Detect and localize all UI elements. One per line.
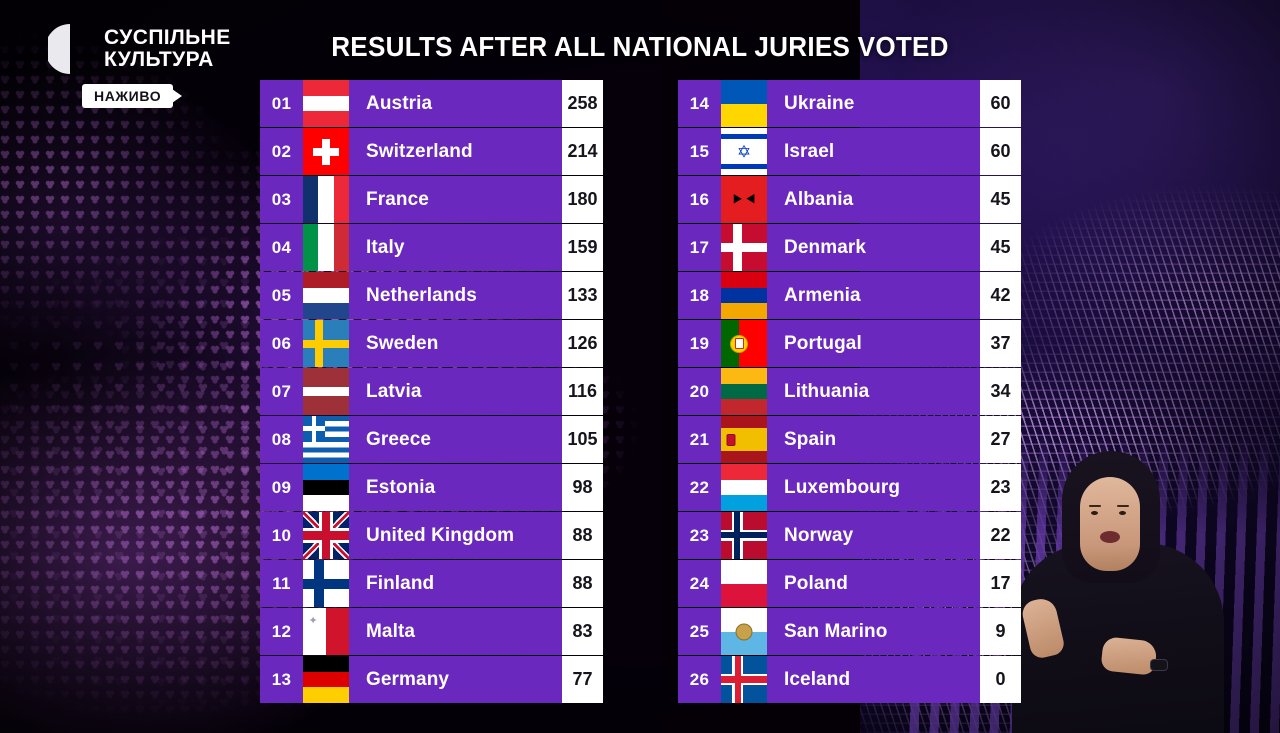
points-cell: 133 (562, 272, 603, 319)
points-cell: 37 (980, 320, 1021, 367)
table-row[interactable]: 11Finland88 (260, 560, 603, 607)
country-name: Israel (767, 128, 980, 175)
flag-germany-icon (303, 656, 349, 703)
points-cell: 105 (562, 416, 603, 463)
flag-united-kingdom-icon (303, 512, 349, 559)
country-name: France (349, 176, 562, 223)
interpreter-mouth (1100, 531, 1120, 543)
table-row[interactable]: 07Latvia116 (260, 368, 603, 415)
interpreter-hand-right (1100, 636, 1157, 675)
flag-armenia-icon (721, 272, 767, 319)
points-cell: 180 (562, 176, 603, 223)
country-name: Poland (767, 560, 980, 607)
points-cell: 98 (562, 464, 603, 511)
table-row[interactable]: 10United Kingdom88 (260, 512, 603, 559)
table-row[interactable]: 05Netherlands133 (260, 272, 603, 319)
flag-finland-icon (303, 560, 349, 607)
table-row[interactable]: 19Portugal37 (678, 320, 1021, 367)
scoreboard-column-right: 14Ukraine6015✡Israel6016⯈⯇Albania4517Den… (678, 80, 1021, 703)
country-name: United Kingdom (349, 512, 562, 559)
table-row[interactable]: 18Armenia42 (678, 272, 1021, 319)
points-cell: 23 (980, 464, 1021, 511)
flag-norway-icon (721, 512, 767, 559)
flag-spain-icon (721, 416, 767, 463)
points-cell: 77 (562, 656, 603, 703)
points-cell: 60 (980, 80, 1021, 127)
country-name: Estonia (349, 464, 562, 511)
rank-cell: 12 (260, 608, 303, 655)
table-row[interactable]: 01Austria258 (260, 80, 603, 127)
table-row[interactable]: 13Germany77 (260, 656, 603, 703)
country-name: Iceland (767, 656, 980, 703)
flag-lithuania-icon (721, 368, 767, 415)
rank-cell: 17 (678, 224, 721, 271)
rank-cell: 04 (260, 224, 303, 271)
interpreter-brow-right (1117, 505, 1129, 508)
interpreter-face (1080, 477, 1140, 571)
table-row[interactable]: 06Sweden126 (260, 320, 603, 367)
country-name: Greece (349, 416, 562, 463)
rank-cell: 08 (260, 416, 303, 463)
flag-austria-icon (303, 80, 349, 127)
rank-cell: 26 (678, 656, 721, 703)
table-row[interactable]: 03France180 (260, 176, 603, 223)
rank-cell: 13 (260, 656, 303, 703)
rank-cell: 01 (260, 80, 303, 127)
scoreboard-column-left: 01Austria25802Switzerland21403France1800… (260, 80, 603, 703)
points-cell: 159 (562, 224, 603, 271)
rank-cell: 23 (678, 512, 721, 559)
rank-cell: 22 (678, 464, 721, 511)
points-cell: 45 (980, 224, 1021, 271)
table-row[interactable]: 15✡Israel60 (678, 128, 1021, 175)
country-name: Armenia (767, 272, 980, 319)
flag-iceland-icon (721, 656, 767, 703)
points-cell: 126 (562, 320, 603, 367)
flag-san-marino-icon (721, 608, 767, 655)
interpreter-wristwatch (1150, 659, 1168, 671)
country-name: Finland (349, 560, 562, 607)
country-name: Switzerland (349, 128, 562, 175)
rank-cell: 15 (678, 128, 721, 175)
rank-cell: 10 (260, 512, 303, 559)
flag-malta-icon: ✦ (303, 608, 349, 655)
page-title: RESULTS AFTER ALL NATIONAL JURIES VOTED (45, 31, 1235, 63)
sign-language-interpreter (990, 448, 1240, 733)
table-row[interactable]: 26Iceland0 (678, 656, 1021, 703)
rank-cell: 16 (678, 176, 721, 223)
flag-estonia-icon (303, 464, 349, 511)
flag-sweden-icon (303, 320, 349, 367)
table-row[interactable]: 04Italy159 (260, 224, 603, 271)
rank-cell: 07 (260, 368, 303, 415)
interpreter-eye-left (1091, 511, 1098, 515)
flag-switzerland-icon (303, 128, 349, 175)
country-name: Latvia (349, 368, 562, 415)
rank-cell: 06 (260, 320, 303, 367)
interpreter-eye-right (1119, 511, 1126, 515)
points-cell: 17 (980, 560, 1021, 607)
rank-cell: 11 (260, 560, 303, 607)
rank-cell: 03 (260, 176, 303, 223)
country-name: Norway (767, 512, 980, 559)
flag-france-icon (303, 176, 349, 223)
points-cell: 45 (980, 176, 1021, 223)
table-row[interactable]: 09Estonia98 (260, 464, 603, 511)
flag-portugal-icon (721, 320, 767, 367)
country-name: Luxembourg (767, 464, 980, 511)
table-row[interactable]: 14Ukraine60 (678, 80, 1021, 127)
country-name: Spain (767, 416, 980, 463)
country-name: Ukraine (767, 80, 980, 127)
rank-cell: 18 (678, 272, 721, 319)
flag-poland-icon (721, 560, 767, 607)
points-cell: 116 (562, 368, 603, 415)
rank-cell: 24 (678, 560, 721, 607)
points-cell: 88 (562, 512, 603, 559)
points-cell: 83 (562, 608, 603, 655)
country-name: Lithuania (767, 368, 980, 415)
country-name: Netherlands (349, 272, 562, 319)
flag-israel-icon: ✡ (721, 128, 767, 175)
points-cell: 88 (562, 560, 603, 607)
country-name: Sweden (349, 320, 562, 367)
table-row[interactable]: 22Luxembourg23 (678, 464, 1021, 511)
points-cell: 258 (562, 80, 603, 127)
live-badge: НАЖИВО (82, 84, 173, 108)
points-cell: 9 (980, 608, 1021, 655)
table-row[interactable]: 02Switzerland214 (260, 128, 603, 175)
table-row[interactable]: 17Denmark45 (678, 224, 1021, 271)
table-row[interactable]: 20Lithuania34 (678, 368, 1021, 415)
table-row[interactable]: 12✦Malta83 (260, 608, 603, 655)
flag-luxembourg-icon (721, 464, 767, 511)
country-name: Germany (349, 656, 562, 703)
points-cell: 27 (980, 416, 1021, 463)
flag-denmark-icon (721, 224, 767, 271)
table-row[interactable]: 24Poland17 (678, 560, 1021, 607)
country-name: Austria (349, 80, 562, 127)
points-cell: 22 (980, 512, 1021, 559)
flag-greece-icon (303, 416, 349, 463)
points-cell: 0 (980, 656, 1021, 703)
table-row[interactable]: 16⯈⯇Albania45 (678, 176, 1021, 223)
rank-cell: 14 (678, 80, 721, 127)
rank-cell: 21 (678, 416, 721, 463)
points-cell: 34 (980, 368, 1021, 415)
country-name: Albania (767, 176, 980, 223)
table-row[interactable]: 21Spain27 (678, 416, 1021, 463)
flag-italy-icon (303, 224, 349, 271)
points-cell: 214 (562, 128, 603, 175)
country-name: Italy (349, 224, 562, 271)
points-cell: 42 (980, 272, 1021, 319)
flag-ukraine-icon (721, 80, 767, 127)
country-name: Portugal (767, 320, 980, 367)
rank-cell: 02 (260, 128, 303, 175)
rank-cell: 09 (260, 464, 303, 511)
rank-cell: 05 (260, 272, 303, 319)
table-row[interactable]: 08Greece105 (260, 416, 603, 463)
table-row[interactable]: 23Norway22 (678, 512, 1021, 559)
scoreboard: 01Austria25802Switzerland21403France1800… (260, 80, 1021, 703)
rank-cell: 25 (678, 608, 721, 655)
flag-albania-icon: ⯈⯇ (721, 176, 767, 223)
broadcast-frame: СУСПІЛЬНЕ КУЛЬТУРА НАЖИВО RESULTS AFTER … (0, 0, 1280, 733)
flag-latvia-icon (303, 368, 349, 415)
country-name: San Marino (767, 608, 980, 655)
rank-cell: 20 (678, 368, 721, 415)
country-name: Denmark (767, 224, 980, 271)
country-name: Malta (349, 608, 562, 655)
table-row[interactable]: 25San Marino9 (678, 608, 1021, 655)
points-cell: 60 (980, 128, 1021, 175)
flag-netherlands-icon (303, 272, 349, 319)
interpreter-brow-left (1089, 505, 1101, 508)
rank-cell: 19 (678, 320, 721, 367)
